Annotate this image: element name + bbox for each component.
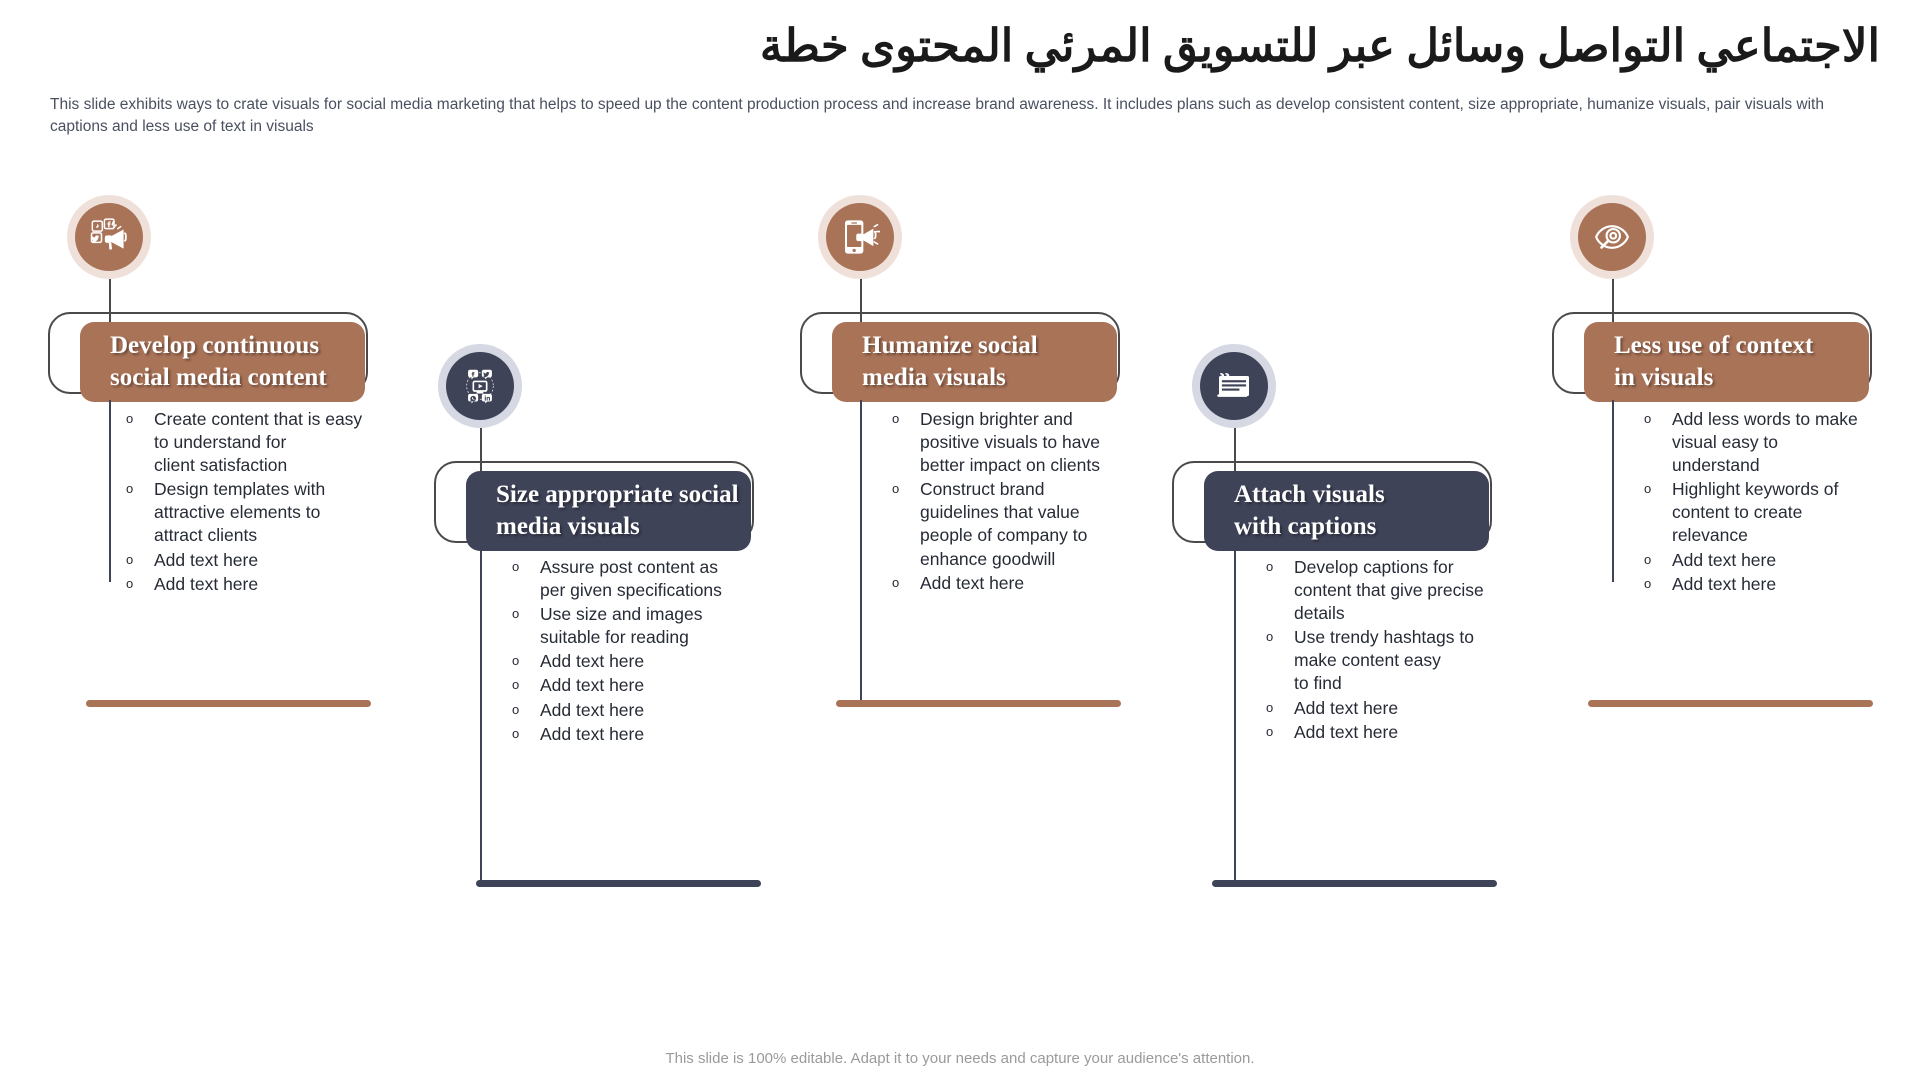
list-item-label: Use trendy hashtags to make content easy… [1294,626,1474,695]
list-item[interactable]: oAdd text here [124,549,374,572]
list-item[interactable]: oConstruct brand guidelines that value p… [890,478,1140,570]
social-network-video-icon [446,352,514,420]
list-item-label: Use size and images suitable for reading [540,603,702,649]
bullet-marker-icon: o [510,699,540,721]
list-item[interactable]: oDesign brighter and positive visuals to… [890,408,1140,477]
accent-bar [86,700,371,707]
bullet-marker-icon: o [1264,721,1294,743]
list-item[interactable]: oAdd text here [510,650,760,673]
list-item[interactable]: oUse trendy hashtags to make content eas… [1264,626,1514,695]
icon-badge-less-use-of-context-in-visuals[interactable] [1570,195,1654,279]
list-item-label: Assure post content as per given specifi… [540,556,722,602]
list-item[interactable]: oAdd text here [1642,549,1892,572]
bullet-marker-icon: o [890,408,920,430]
bullet-marker-icon: o [124,573,154,595]
list-item[interactable]: oUse size and images suitable for readin… [510,603,760,649]
bullet-list: oAdd less words to make visual easy to u… [1642,408,1892,597]
list-item-label: Design brighter and positive visuals to … [920,408,1100,477]
bullet-list: oAssure post content as per given specif… [510,556,760,747]
bullet-marker-icon: o [890,478,920,500]
list-item[interactable]: oAdd less words to make visual easy to u… [1642,408,1892,477]
card-title: Less use of context in visuals [1614,330,1813,394]
bullet-marker-icon: o [1642,478,1672,500]
list-item-label: Add text here [540,723,644,746]
list-item-label: Add text here [154,573,258,596]
mobile-megaphone-icon [826,203,894,271]
card-title: Size appropriate social media visuals [496,479,739,543]
bullet-marker-icon: o [510,603,540,625]
accent-bar [836,700,1121,707]
card-title-pill[interactable]: Develop continuous social media content [80,322,365,402]
icon-badge-attach-visuals-with-captions[interactable] [1192,344,1276,428]
accent-bar [1212,880,1497,887]
list-item-label: Add less words to make visual easy to un… [1672,408,1858,477]
bullet-marker-icon: o [510,674,540,696]
list-item[interactable]: oAdd text here [890,572,1140,595]
card-title-pill[interactable]: Less use of context in visuals [1584,322,1869,402]
list-item-label: Add text here [154,549,258,572]
bullet-marker-icon: o [124,478,154,500]
list-item[interactable]: oAdd text here [510,723,760,746]
list-item-label: Create content that is easy to understan… [154,408,362,477]
bullet-spine [109,400,111,582]
list-item-label: Highlight keywords of content to create … [1672,478,1838,547]
list-item-label: Develop captions for content that give p… [1294,556,1484,625]
bullet-marker-icon: o [1264,697,1294,719]
bullet-spine [480,549,482,881]
icon-badge-humanize-social-media-visuals[interactable] [818,195,902,279]
bullet-list: oDevelop captions for content that give … [1264,556,1514,745]
list-item-label: Add text here [1294,721,1398,744]
bullet-marker-icon: o [510,556,540,578]
list-item-label: Add text here [1294,697,1398,720]
editable-note: This slide is 100% editable. Adapt it to… [0,1050,1920,1067]
list-item-label: Design templates with attractive element… [154,478,325,547]
accent-bar [476,880,761,887]
bullet-marker-icon: o [510,650,540,672]
icon-badge-size-appropriate-social-media-visuals[interactable] [438,344,522,428]
infographic-board: Develop continuous social media contento… [0,0,1920,1080]
list-item-label: Add text here [540,699,644,722]
bullet-marker-icon: o [890,572,920,594]
bullet-spine [1612,400,1614,582]
list-item-label: Add text here [540,650,644,673]
list-item-label: Construct brand guidelines that value pe… [920,478,1087,570]
list-item[interactable]: oAdd text here [510,674,760,697]
card-title: Develop continuous social media content [110,330,327,394]
card-title-pill[interactable]: Humanize social media visuals [832,322,1117,402]
caption-card-icon [1200,352,1268,420]
bullet-spine [1234,549,1236,881]
list-item[interactable]: oAssure post content as per given specif… [510,556,760,602]
bullet-list: oCreate content that is easy to understa… [124,408,374,597]
bullet-marker-icon: o [124,408,154,430]
bullet-marker-icon: o [124,549,154,571]
list-item[interactable]: oHighlight keywords of content to create… [1642,478,1892,547]
card-title-pill[interactable]: Attach visuals with captions [1204,471,1489,551]
accent-bar [1588,700,1873,707]
bullet-spine [860,400,862,705]
list-item[interactable]: oDesign templates with attractive elemen… [124,478,374,547]
eye-search-icon [1578,203,1646,271]
list-item[interactable]: oAdd text here [1264,697,1514,720]
icon-badge-develop-continuous-social-media-content[interactable] [67,195,151,279]
list-item-label: Add text here [1672,549,1776,572]
bullet-marker-icon: o [1642,408,1672,430]
bullet-marker-icon: o [1642,573,1672,595]
bullet-list: oDesign brighter and positive visuals to… [890,408,1140,596]
social-media-megaphone-icon [75,203,143,271]
list-item[interactable]: oAdd text here [1264,721,1514,744]
list-item[interactable]: oDevelop captions for content that give … [1264,556,1514,625]
bullet-marker-icon: o [1642,549,1672,571]
list-item-label: Add text here [920,572,1024,595]
bullet-marker-icon: o [1264,626,1294,648]
list-item-label: Add text here [540,674,644,697]
bullet-marker-icon: o [510,723,540,745]
card-title: Attach visuals with captions [1234,479,1385,543]
list-item[interactable]: oAdd text here [510,699,760,722]
list-item-label: Add text here [1672,573,1776,596]
list-item[interactable]: oCreate content that is easy to understa… [124,408,374,477]
list-item[interactable]: oAdd text here [1642,573,1892,596]
card-title: Humanize social media visuals [862,330,1038,394]
list-item[interactable]: oAdd text here [124,573,374,596]
bullet-marker-icon: o [1264,556,1294,578]
card-title-pill[interactable]: Size appropriate social media visuals [466,471,751,551]
